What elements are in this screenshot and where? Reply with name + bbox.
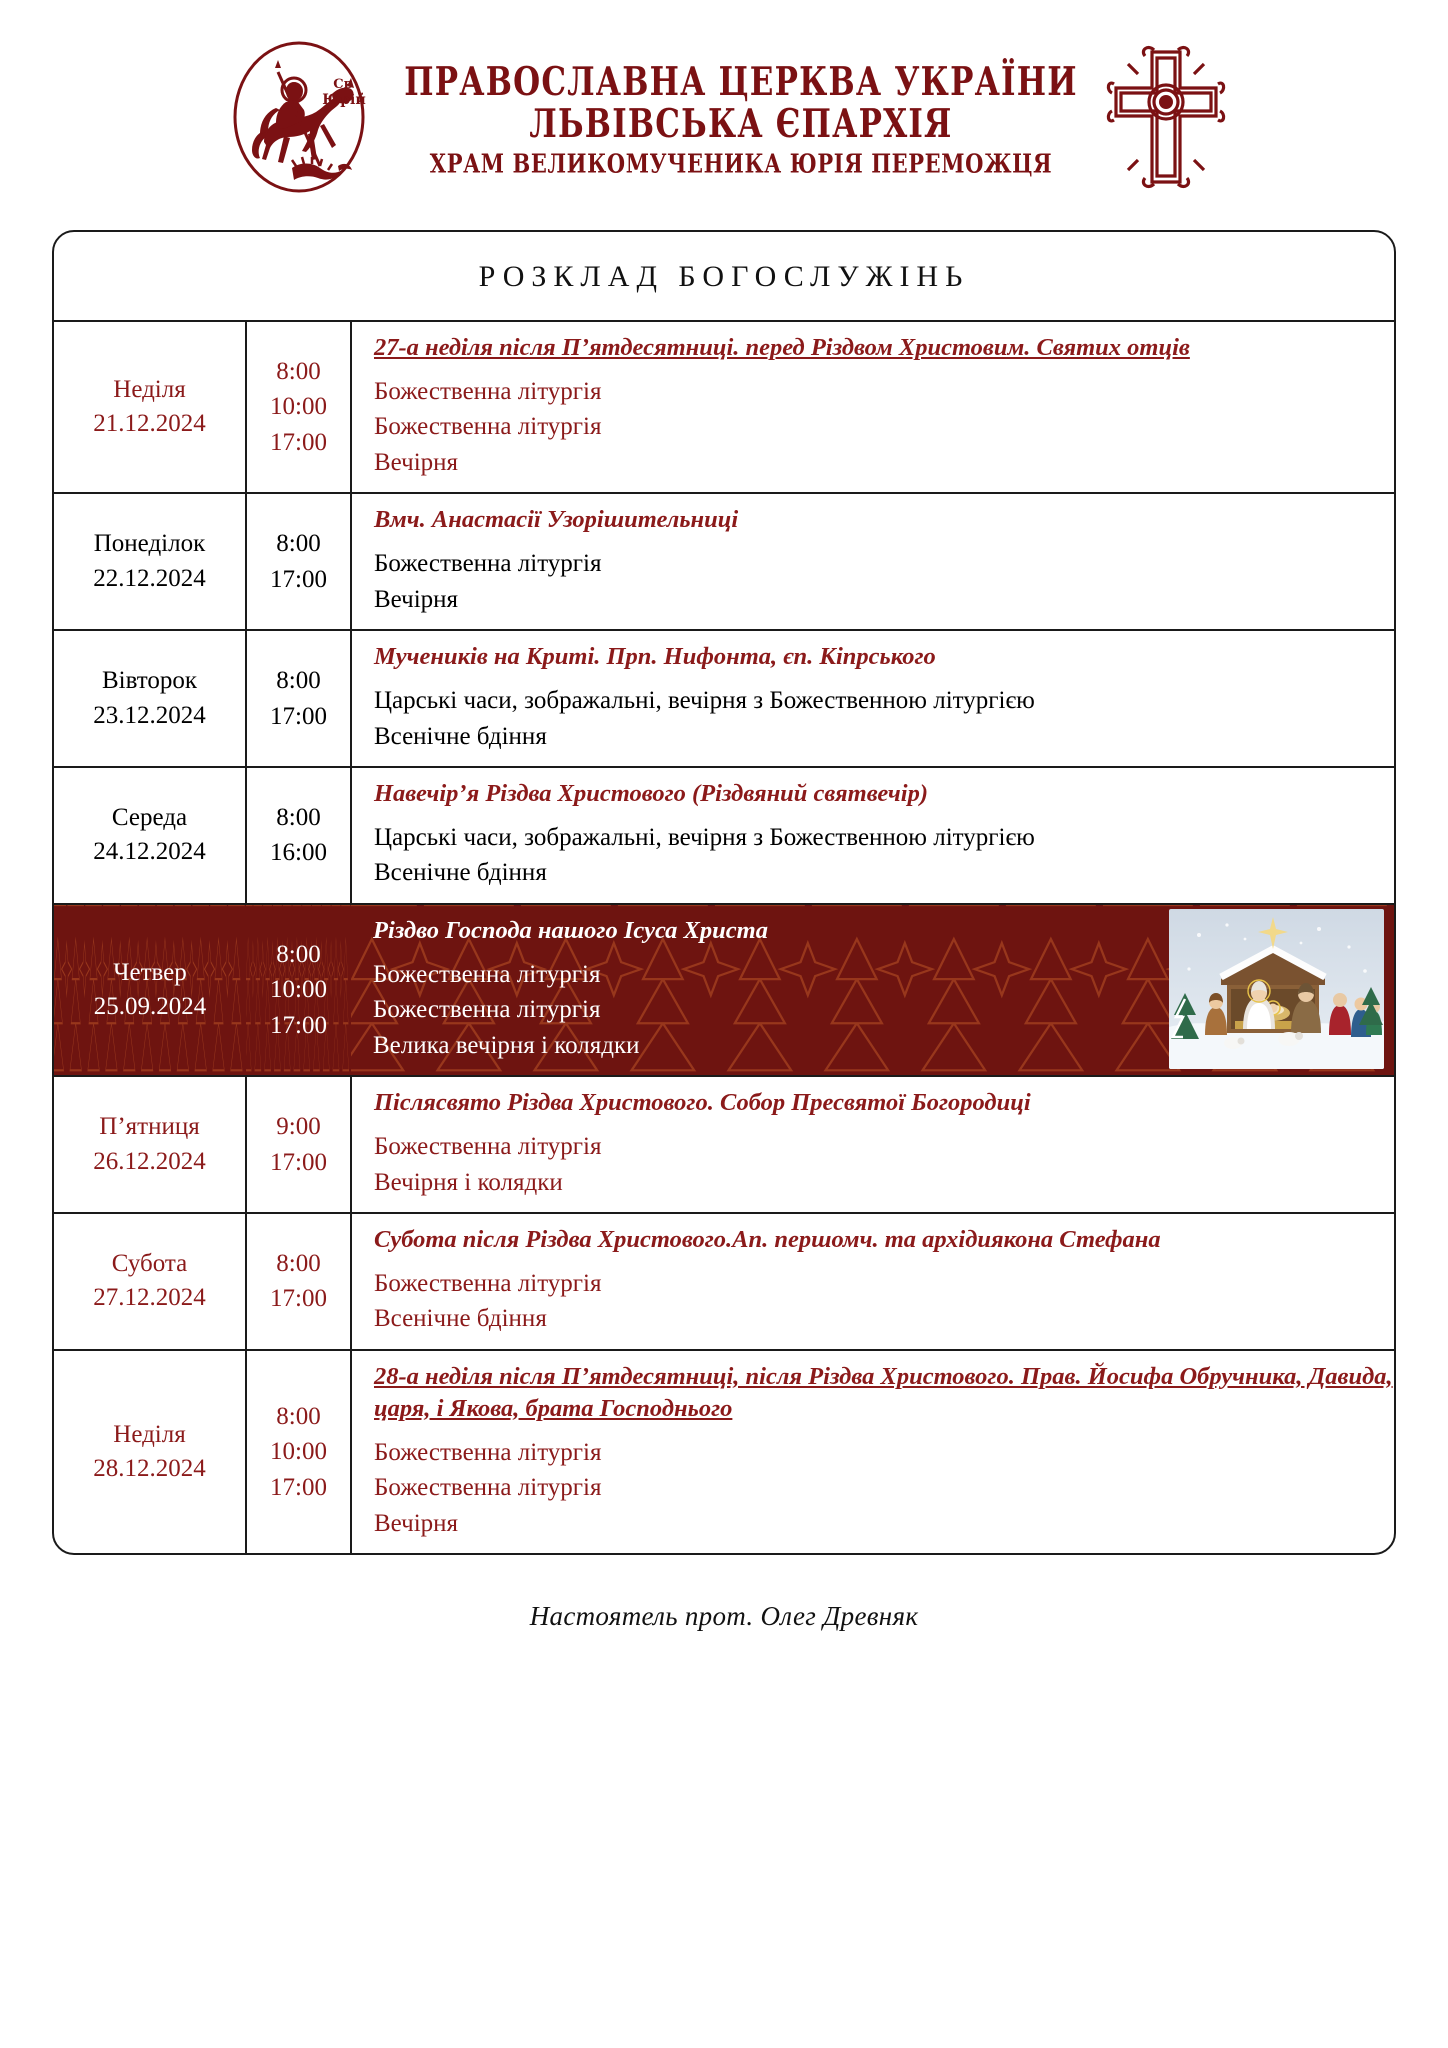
nativity-scene-image (1169, 909, 1384, 1069)
service-time: 17:00 (251, 1281, 346, 1317)
org-name-line2: ЛЬВІВСЬКА ЄПАРХІЯ (404, 105, 1077, 145)
date-label: 24.12.2024 (58, 835, 241, 870)
service-time: 8:00 (251, 1399, 346, 1435)
service-name: Вечірня (374, 582, 1394, 618)
weekday-label: Четвер (58, 956, 242, 991)
table-row: Середа 24.12.2024 8:0016:00 Навечір’я Рі… (54, 767, 1394, 904)
service-name: Божественна літургія (374, 1470, 1394, 1506)
service-time: 9:00 (251, 1109, 346, 1145)
service-name: Божественна літургія (374, 1129, 1394, 1165)
table-row: Субота 27.12.2024 8:0017:00 Субота після… (54, 1213, 1394, 1350)
service-time: 10:00 (251, 389, 346, 425)
time-cell: 8:0017:00 (246, 1213, 351, 1350)
org-name-line3: ХРАМ ВЕЛИКОМУЧЕНИКА ЮРІЯ ПЕРЕМОЖЦЯ (404, 150, 1077, 177)
feast-title: Субота після Різдва Христового.Ап. першо… (374, 1224, 1394, 1256)
table-row: Неділя 21.12.2024 8:0010:0017:00 27-а не… (54, 322, 1394, 493)
date-label: 23.12.2024 (58, 699, 241, 734)
service-time: 10:00 (251, 1434, 346, 1470)
service-name: Божественна літургія (374, 374, 1394, 410)
weekday-label: Вівторок (58, 664, 241, 699)
service-time: 17:00 (250, 1008, 347, 1044)
table-row: Понеділок 22.12.2024 8:0017:00 Вмч. Анас… (54, 493, 1394, 630)
service-name: Божественна літургія (374, 1266, 1394, 1302)
service-name: Божественна літургія (374, 409, 1394, 445)
weekday-label: П’ятниця (58, 1110, 241, 1145)
service-time: 8:00 (251, 800, 346, 836)
schedule-title: РОЗКЛАД БОГОСЛУЖІНЬ (54, 232, 1394, 322)
service-cell: Мучеників на Криті. Прп. Нифонта, єп. Кі… (351, 630, 1394, 767)
service-cell: Навечір’я Різдва Христового (Різдвяний с… (351, 767, 1394, 904)
service-cell: Вмч. Анастасії Узорішительниці Божествен… (351, 493, 1394, 630)
service-time: 17:00 (251, 699, 346, 735)
time-cell: 8:0010:0017:00 (246, 904, 351, 1076)
service-name: Вечірня (374, 445, 1394, 481)
time-cell: 8:0017:00 (246, 630, 351, 767)
service-time: 17:00 (251, 1470, 346, 1506)
feast-title: Навечір’я Різдва Христового (Різдвяний с… (374, 778, 1394, 810)
day-cell: Вівторок 23.12.2024 (54, 630, 246, 767)
time-cell: 8:0016:00 (246, 767, 351, 904)
service-cell: 28-а неділя після П’ятдесятниці, після Р… (351, 1350, 1394, 1553)
time-cell: 8:0017:00 (246, 493, 351, 630)
service-cell: Післясвято Різдва Христового. Собор Прес… (351, 1076, 1394, 1213)
weekday-label: Неділя (58, 1418, 241, 1453)
page-header: Св Юрій ПРАВОСЛАВНА ЦЕРКВА УКРАЇНИ ЛЬВІВ… (0, 0, 1448, 214)
service-time: 17:00 (251, 1145, 346, 1181)
ornate-cross-icon (1104, 42, 1228, 192)
schedule-page: Св Юрій ПРАВОСЛАВНА ЦЕРКВА УКРАЇНИ ЛЬВІВ… (0, 0, 1448, 2048)
schedule-table: Неділя 21.12.2024 8:0010:0017:00 27-а не… (54, 322, 1394, 1553)
service-name: Всенічне бдіння (374, 855, 1394, 891)
table-row: Неділя 28.12.2024 8:0010:0017:00 28-а не… (54, 1350, 1394, 1553)
table-row: Вівторок 23.12.2024 8:0017:00 Мучеників … (54, 630, 1394, 767)
service-name: Царські часи, зображальні, вечірня з Бож… (374, 820, 1394, 856)
feast-title: 28-а неділя після П’ятдесятниці, після Р… (374, 1361, 1394, 1425)
feast-title: 27-а неділя після П’ятдесятниці. перед Р… (374, 332, 1394, 364)
service-time: 8:00 (250, 937, 347, 973)
service-name: Божественна літургія (374, 546, 1394, 582)
service-time: 10:00 (250, 972, 347, 1008)
service-time: 17:00 (251, 425, 346, 461)
logo-caption-sv: Св (334, 77, 353, 92)
service-name: Царські часи, зображальні, вечірня з Бож… (374, 683, 1394, 719)
service-cell: 27-а неділя після П’ятдесятниці. перед Р… (351, 322, 1394, 493)
header-titles: ПРАВОСЛАВНА ЦЕРКВА УКРАЇНИ ЛЬВІВСЬКА ЄПА… (404, 63, 1077, 172)
day-cell: П’ятниця 26.12.2024 (54, 1076, 246, 1213)
service-name: Вечірня і колядки (374, 1165, 1394, 1201)
day-cell: Середа 24.12.2024 (54, 767, 246, 904)
service-cell: Різдво Господа нашого Ісуса Христа Божес… (351, 904, 1394, 1076)
signature-footer: Настоятель прот. Олег Древняк (0, 1555, 1448, 1632)
weekday-label: Понеділок (58, 527, 241, 562)
day-cell: Субота 27.12.2024 (54, 1213, 246, 1350)
time-cell: 8:0010:0017:00 (246, 1350, 351, 1553)
feast-title: Вмч. Анастасії Узорішительниці (374, 504, 1394, 536)
service-time: 16:00 (251, 835, 346, 871)
weekday-label: Середа (58, 801, 241, 836)
date-label: 21.12.2024 (58, 407, 241, 442)
date-label: 25.09.2024 (58, 990, 242, 1025)
service-time: 8:00 (251, 663, 346, 699)
service-time: 17:00 (251, 562, 346, 598)
table-row: Четвер 25.09.2024 8:0010:0017:00 (54, 904, 1394, 1076)
table-row: П’ятниця 26.12.2024 9:0017:00 Післясвято… (54, 1076, 1394, 1213)
date-label: 22.12.2024 (58, 562, 241, 597)
service-name: Вечірня (374, 1506, 1394, 1542)
day-cell: Понеділок 22.12.2024 (54, 493, 246, 630)
service-time: 8:00 (251, 354, 346, 390)
day-cell: Четвер 25.09.2024 (54, 904, 246, 1076)
service-time: 8:00 (251, 526, 346, 562)
service-name: Всенічне бдіння (374, 1301, 1394, 1337)
service-cell: Субота після Різдва Христового.Ап. першо… (351, 1213, 1394, 1350)
time-cell: 8:0010:0017:00 (246, 322, 351, 493)
logo-caption-yuriy: Юрій (323, 91, 367, 108)
service-name: Божественна літургія (374, 1435, 1394, 1471)
weekday-label: Субота (58, 1247, 241, 1282)
service-name: Всенічне бдіння (374, 719, 1394, 755)
weekday-label: Неділя (58, 373, 241, 408)
date-label: 26.12.2024 (58, 1145, 241, 1180)
schedule-card: РОЗКЛАД БОГОСЛУЖІНЬ Неділя 21.12.2024 8:… (52, 230, 1396, 1555)
time-cell: 9:0017:00 (246, 1076, 351, 1213)
date-label: 27.12.2024 (58, 1281, 241, 1316)
day-cell: Неділя 28.12.2024 (54, 1350, 246, 1553)
service-time: 8:00 (251, 1246, 346, 1282)
feast-title: Післясвято Різдва Христового. Собор Прес… (374, 1087, 1394, 1119)
feast-title: Мучеників на Криті. Прп. Нифонта, єп. Кі… (374, 641, 1394, 673)
saint-george-dragon-icon: Св Юрій (220, 38, 378, 196)
date-label: 28.12.2024 (58, 1452, 241, 1487)
day-cell: Неділя 21.12.2024 (54, 322, 246, 493)
org-name-line1: ПРАВОСЛАВНА ЦЕРКВА УКРАЇНИ (404, 63, 1077, 103)
